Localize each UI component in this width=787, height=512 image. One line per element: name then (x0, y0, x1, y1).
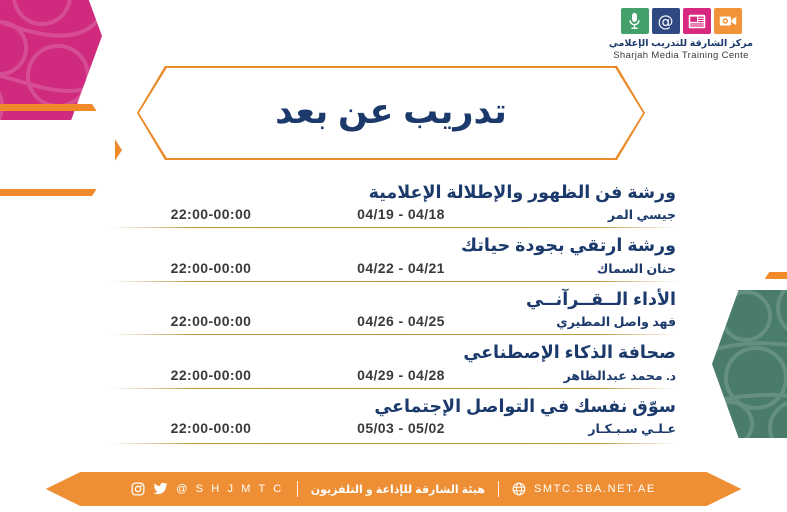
course-meta: حنان السماك 04/22 - 04/21 22:00-00:00 (110, 259, 680, 276)
brand-name-english: Sharjah Media Training Cente (591, 50, 771, 62)
course-title: ورشة ارتقي بجودة حياتك (110, 233, 680, 258)
footer-divider (297, 481, 298, 497)
course-title: سوّق نفسك في التواصل الإجتماعي (110, 394, 680, 419)
hexagon-pattern-overlay (712, 290, 787, 438)
course-time: 22:00-00:00 (116, 260, 306, 276)
row-separator (110, 443, 680, 444)
course-title: الأداء الــقــرآنــي (110, 287, 680, 312)
course-row[interactable]: الأداء الــقــرآنــي فهد واصل المطيري 04… (110, 283, 680, 336)
course-dates: 04/26 - 04/25 (306, 313, 496, 329)
microphone-glyph (628, 12, 641, 30)
row-separator (110, 388, 680, 389)
row-separator (110, 334, 680, 335)
course-dates: 05/03 - 05/02 (306, 420, 496, 436)
footer-content: @ S H J M T C هيئة الشارقة للإذاعة و الت… (0, 472, 787, 506)
svg-text:@: @ (658, 12, 674, 31)
course-dates: 04/22 - 04/21 (306, 260, 496, 276)
newspaper-icon (683, 8, 711, 34)
course-schedule-list: ورشة فن الظهور والإطلالة الإعلامية جيسي … (110, 176, 680, 443)
website-url[interactable]: SMTC.SBA.NET.AE (534, 483, 656, 495)
footer-divider (498, 481, 499, 497)
course-meta: عـلـي سـبـكـار 05/03 - 05/02 22:00-00:00 (110, 419, 680, 436)
social-handle[interactable]: @ S H J M T C (176, 483, 284, 495)
authority-name: هيئة الشارقة للإذاعة و التلفزيون (311, 483, 485, 496)
row-separator (110, 227, 680, 228)
brand-logo: @ مركز الشارقة للتدريب الإعلامي Sharjah … (591, 8, 771, 62)
course-meta: د. محمد عبدالظاهر 04/29 - 04/28 22:00-00… (110, 366, 680, 383)
globe-icon (512, 482, 526, 496)
row-separator (110, 281, 680, 282)
at-sign-icon: @ (652, 8, 680, 34)
globe-glyph (512, 482, 526, 496)
course-trainer: د. محمد عبدالظاهر (496, 368, 680, 383)
brand-icon-tiles: @ (591, 8, 771, 34)
footer-ribbon: @ S H J M T C هيئة الشارقة للإذاعة و الت… (0, 472, 787, 506)
course-row[interactable]: ورشة فن الظهور والإطلالة الإعلامية جيسي … (110, 176, 680, 229)
green-hexagon-decoration (712, 290, 787, 438)
course-title: ورشة فن الظهور والإطلالة الإعلامية (110, 180, 680, 205)
course-row[interactable]: سوّق نفسك في التواصل الإجتماعي عـلـي سـب… (110, 390, 680, 443)
course-trainer: عـلـي سـبـكـار (496, 421, 680, 436)
instagram-glyph (131, 482, 145, 496)
course-trainer: جيسي المر (496, 207, 680, 222)
course-row[interactable]: ورشة ارتقي بجودة حياتك حنان السماك 04/22… (110, 229, 680, 282)
page-title: تدريب عن بعد (137, 66, 645, 160)
microphone-icon (621, 8, 649, 34)
course-trainer: فهد واصل المطيري (496, 314, 680, 329)
course-dates: 04/19 - 04/18 (306, 206, 496, 222)
course-time: 22:00-00:00 (116, 206, 306, 222)
orange-hexagon-outline-right (742, 272, 787, 358)
course-time: 22:00-00:00 (116, 420, 306, 436)
video-camera-icon (714, 8, 742, 34)
course-title: صحافة الذكاء الإصطناعي (110, 340, 680, 365)
course-trainer: حنان السماك (496, 261, 680, 276)
orange-hexagon-outline-left (0, 104, 122, 196)
newspaper-glyph (688, 14, 706, 29)
instagram-icon[interactable] (131, 482, 145, 496)
brand-name-arabic: مركز الشارقة للتدريب الإعلامي (591, 38, 771, 50)
course-time: 22:00-00:00 (116, 367, 306, 383)
at-sign-glyph: @ (656, 12, 675, 31)
page-title-banner: تدريب عن بعد (137, 66, 645, 160)
video-camera-glyph (719, 14, 737, 28)
course-time: 22:00-00:00 (116, 313, 306, 329)
pink-hexagon-decoration (0, 0, 102, 120)
course-meta: فهد واصل المطيري 04/26 - 04/25 22:00-00:… (110, 312, 680, 329)
course-meta: جيسي المر 04/19 - 04/18 22:00-00:00 (110, 205, 680, 222)
twitter-icon[interactable] (153, 482, 168, 496)
twitter-glyph (153, 482, 168, 496)
hexagon-pattern-overlay (0, 0, 102, 120)
course-dates: 04/29 - 04/28 (306, 367, 496, 383)
course-row[interactable]: صحافة الذكاء الإصطناعي د. محمد عبدالظاهر… (110, 336, 680, 389)
